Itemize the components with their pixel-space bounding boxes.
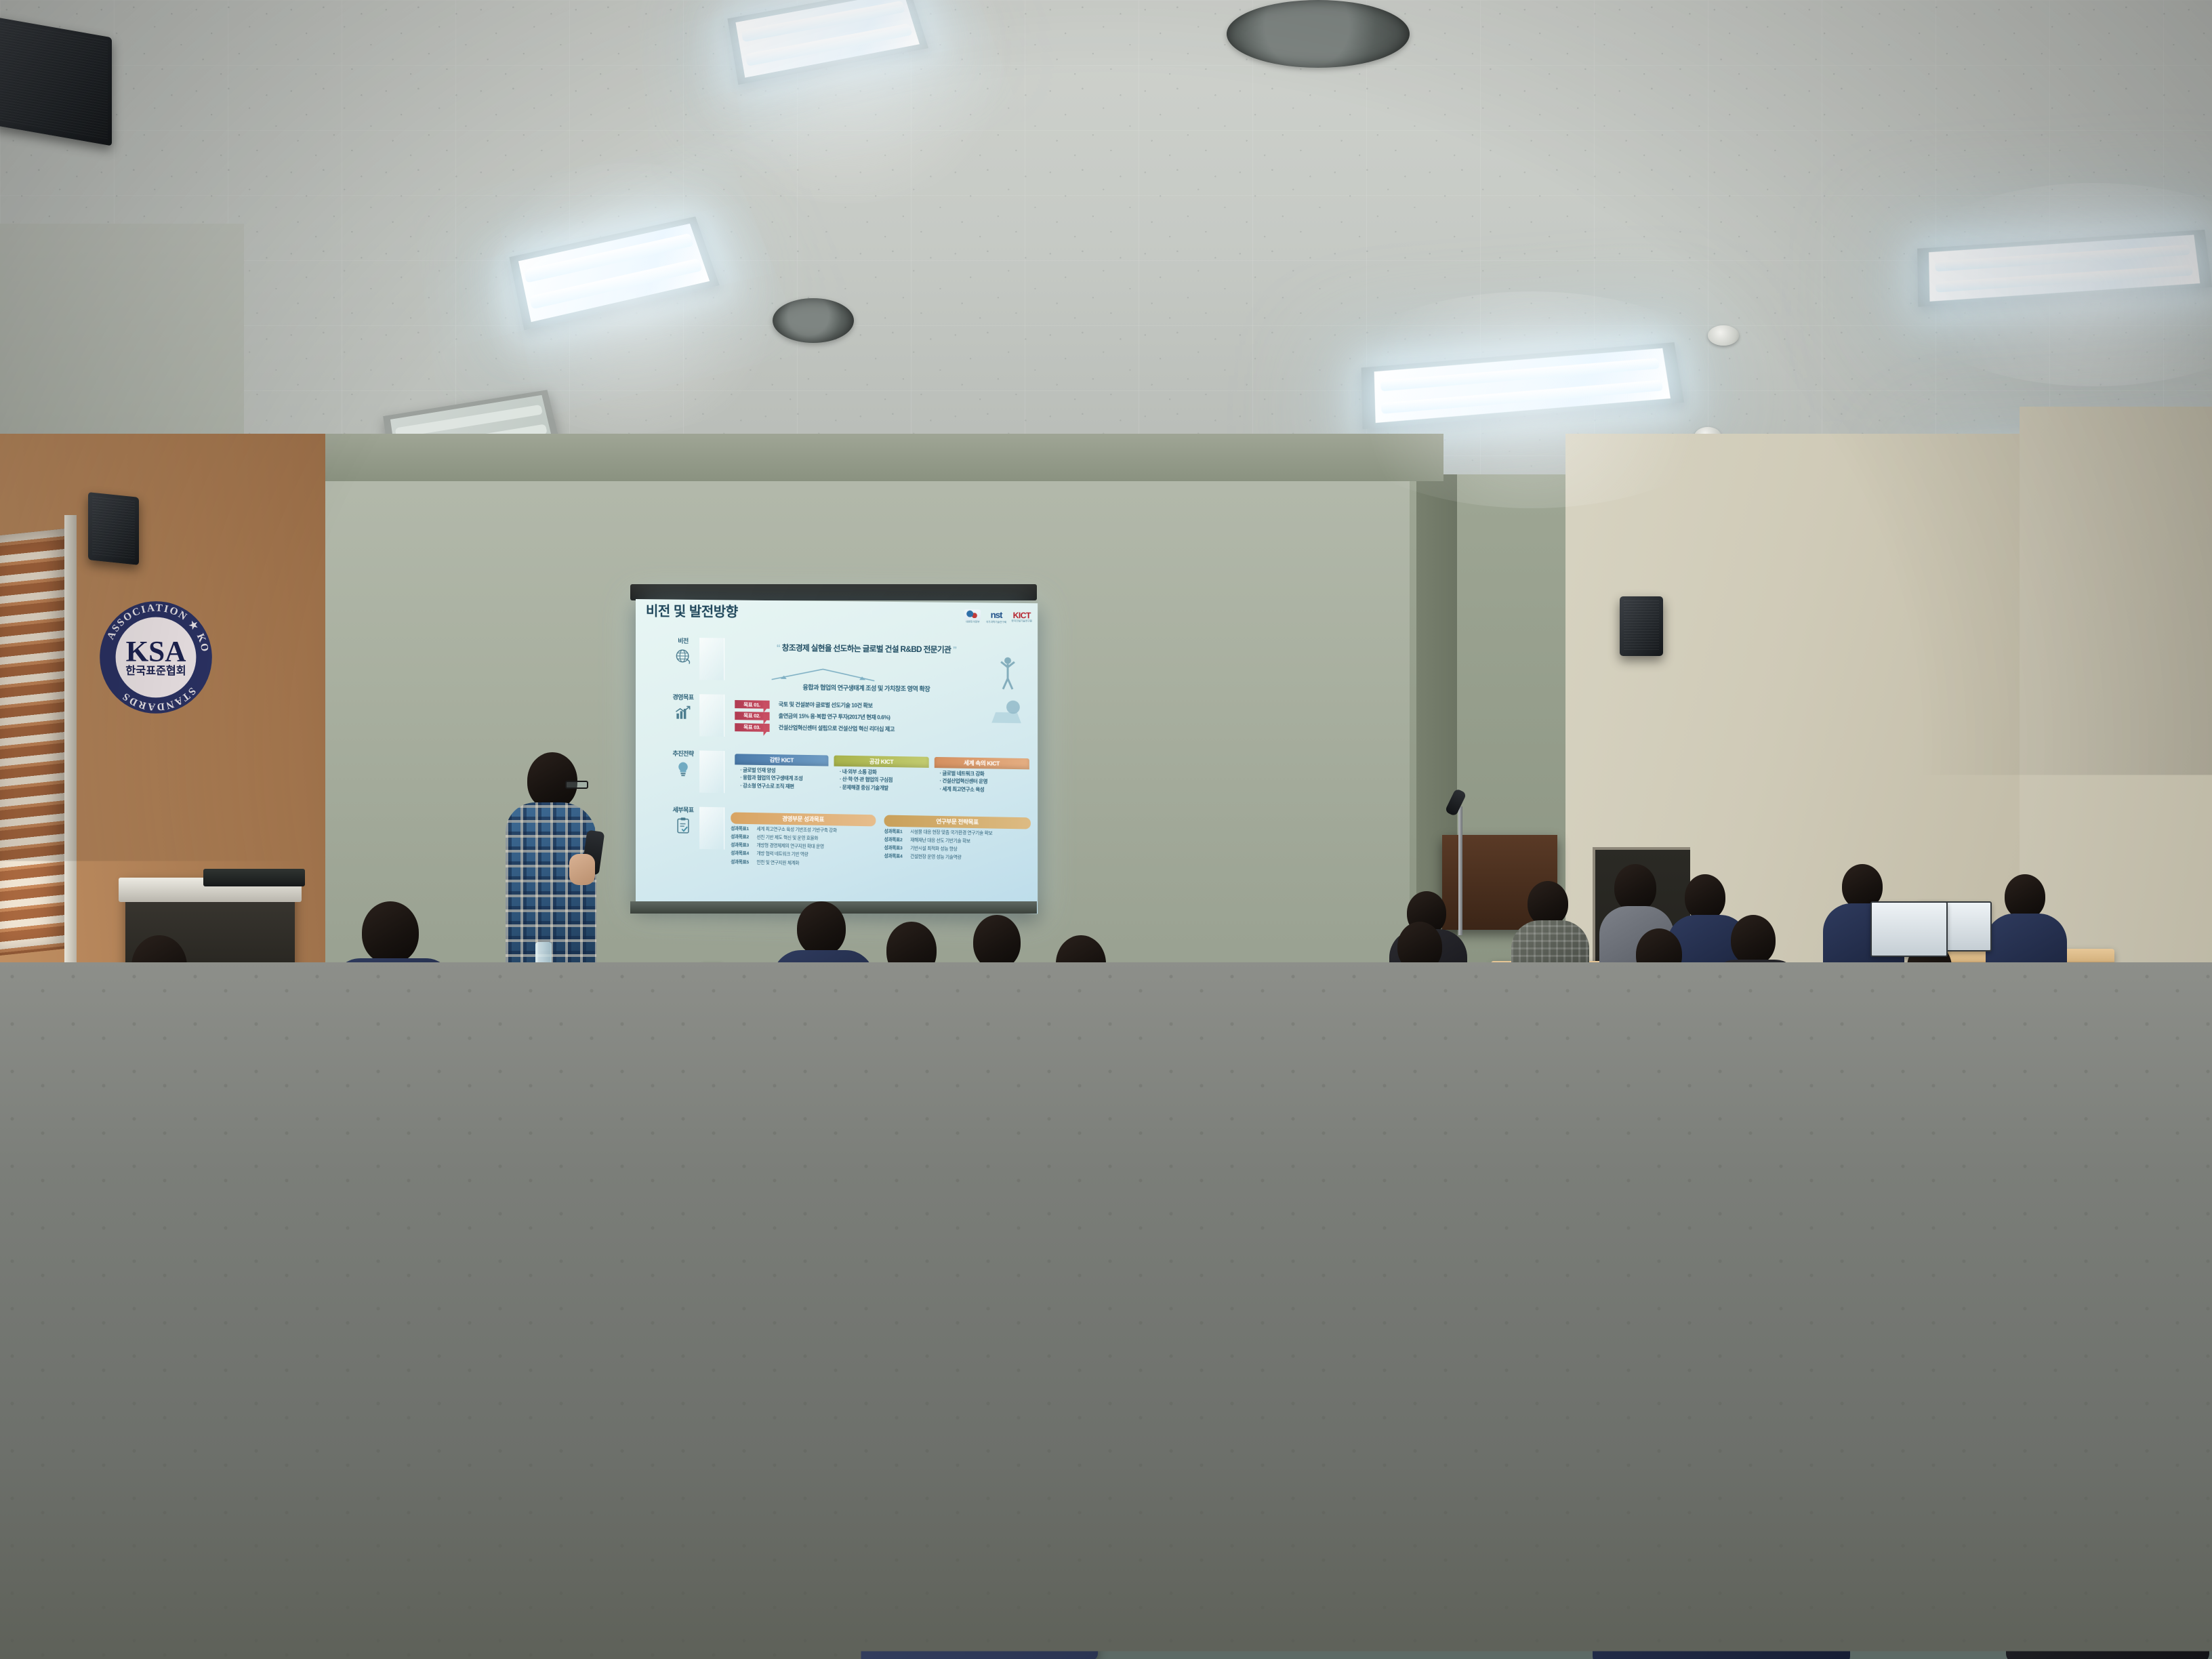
kict-logo-text: KICT xyxy=(1011,611,1032,619)
slide-bottom-columns: 경영부문 성과목표 성과목표1세계 최고연구소 육성 기반조성 기반구축 강화 … xyxy=(731,812,1031,871)
bottom-item: 성과목표4개방 협력 네트워크 기반 역량 xyxy=(731,851,876,859)
bottom-item: 성과목표3기반시설 최적화 성능 향상 xyxy=(884,846,1031,854)
slide-pillar-row: 감탄 KICT 글로벌 인재 양성 융합과 협업의 연구생태계 조성 강소형 연… xyxy=(735,754,1029,795)
lightbulb-icon xyxy=(674,760,693,779)
pillar-item: 글로벌 네트워크 강화 xyxy=(940,770,1029,777)
left-wall-upper xyxy=(0,224,244,447)
gov-logo-label: 대한민국정부 xyxy=(964,620,981,623)
pillar-item: 강소형 연구소로 조직 재편 xyxy=(740,782,828,790)
pillar-item: 내·외부 소통 강화 xyxy=(840,768,928,775)
korea-gov-emblem-icon xyxy=(964,609,981,620)
pillar-column: 감탄 KICT 글로벌 인재 양성 융합과 협업의 연구생태계 조성 강소형 연… xyxy=(735,754,828,792)
bottom-column-head: 연구부문 전략목표 xyxy=(884,815,1031,829)
pillar-item: 세계 최고연구소 육성 xyxy=(940,785,1029,793)
goal-row: 목표 03. 건설산업혁신센터 설립으로 건설산업 혁신 리더십 제고 xyxy=(735,723,1002,735)
goal-row: 목표 02. 출연금의 15% 융·복합 연구 투자(2017년 현재 0.6%… xyxy=(735,712,1002,724)
bottom-column-management: 경영부문 성과목표 성과목표1세계 최고연구소 육성 기반조성 기반구축 강화 … xyxy=(731,812,876,867)
projection-screen: 비전 및 발전방향 대한민국정부 nst 국가과학기술연구회 KICT 한국건설… xyxy=(636,599,1038,914)
pillar-item: 산·학·연·관 협업의 구심점 xyxy=(840,776,928,783)
pillar-item: 건설산업혁신센터 운영 xyxy=(940,778,1029,785)
ksa-wall-emblem: ASSOCIATION ★ KOREAN STANDARDS KSA 한국표준협… xyxy=(95,596,217,718)
goal-text: 출연금의 15% 융·복합 연구 투자(2017년 현재 0.6%) xyxy=(779,713,890,721)
pillar-item: 융합과 협업의 연구생태계 조성 xyxy=(740,775,828,782)
laptop[interactable] xyxy=(1870,901,1948,957)
bottom-item: 성과목표2재해재난 대응 선도 기반기술 확보 xyxy=(884,838,1031,846)
slide-ecosystem-line: 융합과 협업의 연구생태계 조성 및 가치창조 영역 확장 xyxy=(737,683,996,694)
slide-content: 비전 및 발전방향 대한민국정부 nst 국가과학기술연구회 KICT 한국건설… xyxy=(636,599,1038,914)
slide-goal-list: 목표 01. 국토 및 건설분야 글로벌 선도기술 10건 확보 목표 02. … xyxy=(735,700,1002,739)
ceiling-vent xyxy=(773,298,854,343)
slide-vision-statement: “ 창조경제 실현을 선도하는 글로벌 건설 R&BD 전문기관 ” xyxy=(729,642,1004,656)
wall-speaker-left-lower xyxy=(88,492,139,565)
step-label: 비전 xyxy=(678,638,689,645)
floor xyxy=(0,962,2212,1659)
chevron-connector-icon xyxy=(765,665,882,682)
globe-icon xyxy=(674,647,693,666)
bottom-column-research: 연구부문 전략목표 성과목표1시설물 대응 현장 맞춤 국가환경 연구기술 확보… xyxy=(884,815,1031,872)
window-frame xyxy=(64,515,77,962)
venetian-blinds[interactable] xyxy=(0,528,71,956)
clipboard-check-icon xyxy=(674,816,693,836)
bar-chart-icon xyxy=(674,703,693,722)
glasses-icon xyxy=(565,781,588,789)
nst-logo-text: nst xyxy=(986,610,1006,621)
presenter xyxy=(495,752,617,989)
pillar-head: 세계 속의 KICT xyxy=(934,757,1029,769)
bottom-item: 성과목표1세계 최고연구소 육성 기반조성 기반구축 강화 xyxy=(731,826,876,834)
step-label: 추진전략 xyxy=(672,750,693,758)
smoke-detector xyxy=(1708,325,1739,346)
bottom-item: 성과목표3개방형 경영체제의 연구지원 확대 운영 xyxy=(731,843,876,851)
pillar-item: 글로벌 인재 양성 xyxy=(740,766,828,774)
bottom-item: 성과목표2선진 기반 제도 혁신 및 운영 효율화 xyxy=(731,834,876,842)
goal-row: 목표 01. 국토 및 건설분야 글로벌 선도기술 10건 확보 xyxy=(735,700,1002,712)
pillar-column: 세계 속의 KICT 글로벌 네트워크 강화 건설산업혁신센터 운영 세계 최고… xyxy=(934,757,1029,795)
goal-text: 국토 및 건설분야 글로벌 선도기술 10건 확보 xyxy=(779,701,873,710)
screen-housing xyxy=(630,584,1037,600)
ksa-korean-name: 한국표준협회 xyxy=(125,664,186,677)
pillar-head: 공감 KICT xyxy=(834,756,928,768)
step-label: 경영목표 xyxy=(672,694,693,702)
bottom-item: 성과목표5안전 및 연구지원 체계화 xyxy=(731,859,876,867)
pillar-column: 공감 KICT 내·외부 소통 강화 산·학·연·관 협업의 구심점 문제해결 … xyxy=(834,756,928,794)
quote-open: “ xyxy=(777,642,780,652)
pillar-head: 감탄 KICT xyxy=(735,754,828,766)
goal-tag: 목표 01. xyxy=(735,700,769,709)
slide-step-rail: 비전 경영목표 xyxy=(642,637,724,863)
goal-tag: 목표 02. xyxy=(735,712,769,720)
lectern-monitor xyxy=(203,869,305,886)
bottom-column-head: 경영부문 성과목표 xyxy=(731,812,876,826)
step-label: 세부목표 xyxy=(672,806,693,815)
kict-logo-sub: 한국건설기술연구원 xyxy=(1011,619,1032,623)
quote-close: ” xyxy=(953,645,957,655)
goal-tag: 목표 03. xyxy=(735,723,769,732)
wall-soffit xyxy=(142,434,1443,481)
pillar-item: 문제해결 중심 기술개발 xyxy=(840,784,928,792)
presenter-hand xyxy=(569,854,595,885)
slide-logo-row: 대한민국정부 nst 국가과학기술연구회 KICT 한국건설기술연구원 xyxy=(964,609,1032,624)
nst-logo-sub: 국가과학기술연구회 xyxy=(986,621,1006,624)
wall-speaker-right xyxy=(1620,596,1663,656)
wall-speaker-left xyxy=(0,17,112,146)
goal-text: 건설산업혁신센터 설립으로 건설산업 혁신 리더십 제고 xyxy=(779,724,895,733)
slide-person-illustration xyxy=(986,648,1026,752)
vision-text: 창조경제 실현을 선도하는 글로벌 건설 R&BD 전문기관 xyxy=(782,644,951,655)
ksa-acronym: KSA xyxy=(126,636,186,668)
bottom-item: 성과목표4건설현장 운영 성능 기술역량 xyxy=(884,854,1031,862)
lecture-room-photo: ASSOCIATION ★ KOREAN STANDARDS KSA 한국표준협… xyxy=(0,0,2212,1659)
ceiling-vent xyxy=(1227,0,1410,68)
bottom-item: 성과목표1시설물 대응 현장 맞춤 국가환경 연구기술 확보 xyxy=(884,829,1031,837)
